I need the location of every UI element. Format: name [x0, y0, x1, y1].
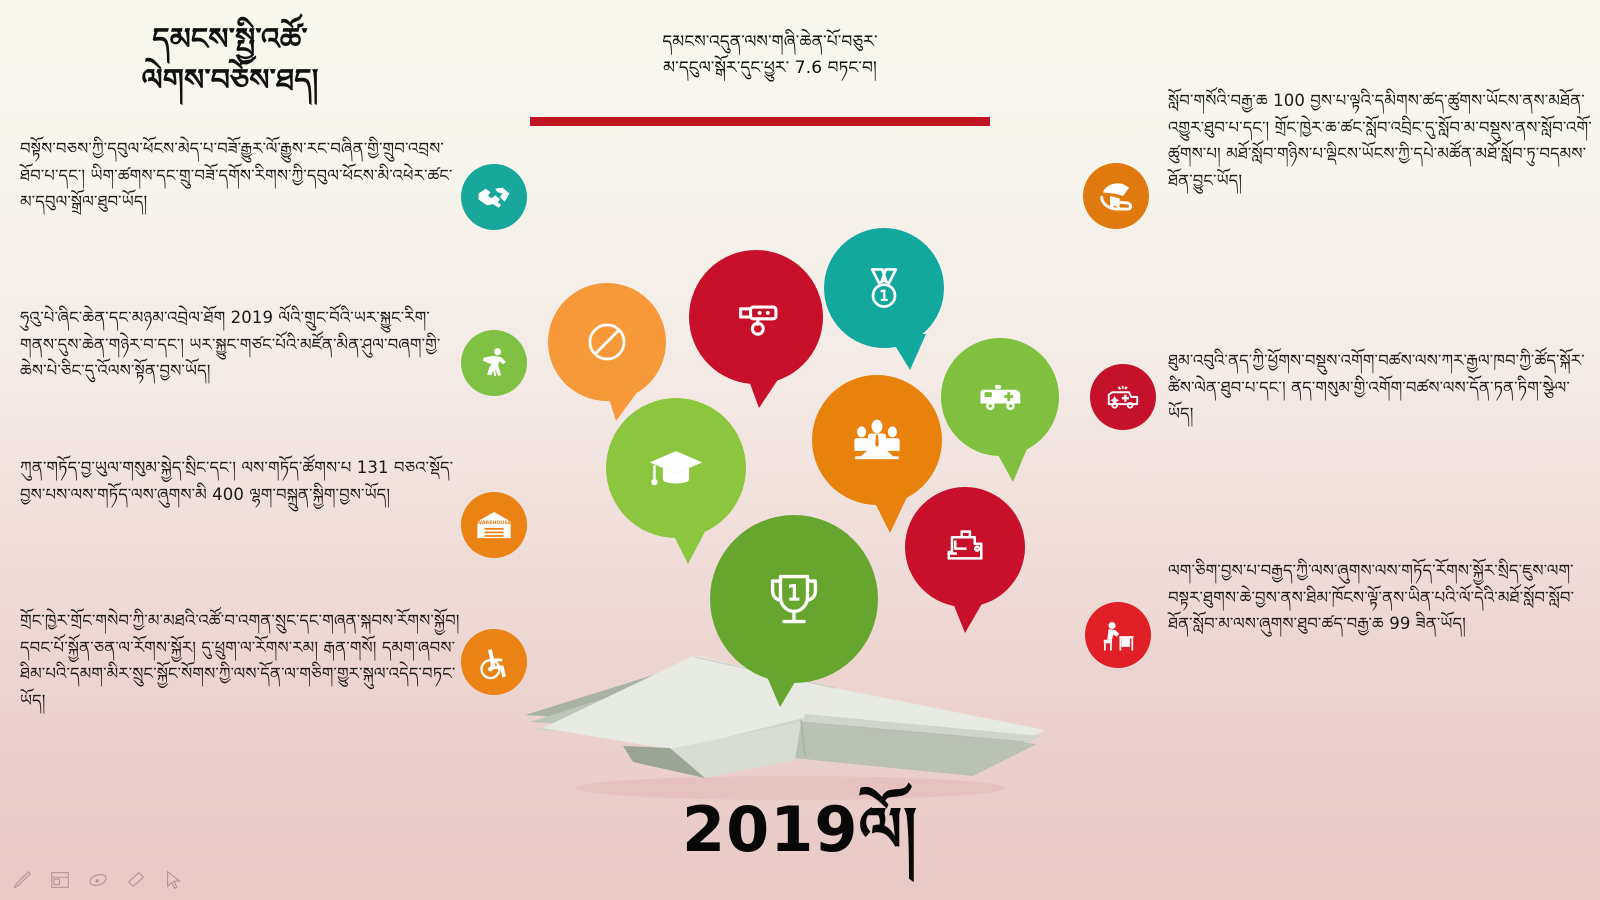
medal-1-icon: 1: [857, 261, 911, 315]
year-label: 2019ལོ།: [600, 780, 1000, 880]
left-paragraph-1: བསྟོས་བཅས་ཀྱི་དབུལ་ཕོངས་མེད་པ་བཟོ་རྒྱུར་…: [20, 136, 460, 216]
eraser-icon: [125, 869, 147, 891]
sewing-machine-icon: [939, 521, 991, 573]
badge-person-at-desk[interactable]: [1085, 602, 1151, 668]
bubble-meeting[interactable]: [812, 375, 942, 505]
pen-icon: [11, 869, 33, 891]
right-paragraph-2: ཐུམ་འབུའི་ནད་ཀྱི་ཕྱོགས་བསྡུས་འགོག་བཚས་ལས…: [1168, 348, 1593, 428]
left-paragraph-4: གྲོང་ཁྱེར་གྲོང་གསེབ་ཀྱི་མ་མཐའི་འཚོ་བ་འགན…: [20, 608, 460, 715]
badge-warehouse[interactable]: WAREHOUSE: [461, 492, 527, 558]
cursor-arrow-icon: [163, 869, 185, 891]
megaphone-icon: [727, 288, 785, 346]
bubble-medal[interactable]: 1: [824, 228, 944, 348]
layout-tool[interactable]: [48, 868, 72, 892]
right-paragraph-3: ལག་ཅིག་བྱས་པ་བརྒྱད་ཀྱི་ལས་ཞུགས་ལས་གཏོད་ར…: [1168, 558, 1593, 638]
accent-rule-divider: [530, 117, 990, 126]
ellipse-tool[interactable]: [86, 868, 110, 892]
left-paragraph-2: ཧུའུ་པེ་ཞིང་ཆེན་དང་མཉམ་འབྲེལ་ཐོག 2019 ལོ…: [20, 305, 460, 385]
eraser-tool[interactable]: [124, 868, 148, 892]
badge-handshake[interactable]: [461, 164, 527, 230]
right-paragraph-1: སློབ་གསོའི་བརྒྱ་ཆ 100 བྱས་པ་ལྟའི་དམིགས་ཚ…: [1168, 88, 1593, 195]
bubble-megaphone[interactable]: [689, 250, 823, 384]
person-at-desk-icon: [1099, 616, 1137, 654]
bubble-tail: [945, 591, 991, 635]
badge-hand-holding-book[interactable]: [1083, 163, 1149, 229]
graduation-cap-icon: [646, 438, 706, 498]
trophy-1-icon: 1: [758, 563, 830, 635]
left-paragraph-3: ཀུན་གཏོད་བྱ་ཡུལ་གསུམ་སྐྱེད་སྲིང་དང་། ལས་…: [20, 455, 460, 508]
bubble-trophy[interactable]: 1: [710, 515, 878, 683]
badge-ambulance[interactable]: [1090, 364, 1156, 430]
meeting-people-icon: [848, 411, 906, 469]
ambulance-side-icon: [974, 371, 1026, 423]
bubble-tail: [886, 332, 932, 372]
slide-canvas: དམངས་སྤྱི་འཚོ་ལེགས་བཅོས་ཐད། དམངས་འདུན་ལས…: [0, 0, 1600, 900]
ambulance-icon: [1104, 378, 1142, 416]
bubble-prohibited[interactable]: [548, 283, 666, 401]
handshake-icon: [475, 178, 513, 216]
bubble-tail: [758, 663, 810, 709]
hand-holding-book-icon: [1097, 177, 1135, 215]
page-title: དམངས་སྤྱི་འཚོ་ལེགས་བཅོས་ཐད།: [30, 20, 430, 101]
pen-tool[interactable]: [10, 868, 34, 892]
person-dancing-icon: [475, 344, 513, 382]
bubble-tail: [989, 440, 1035, 484]
slide-layout-icon: [49, 869, 71, 891]
center-heading: དམངས་འདུན་ལས་གཞི་ཆེན་པོ་བཅུར་མ་དངུལ་སྒོར…: [520, 30, 1020, 81]
svg-text:WAREHOUSE: WAREHOUSE: [477, 520, 511, 526]
bubble-ambulance[interactable]: [941, 338, 1059, 456]
prohibited-icon: [581, 316, 633, 368]
bubble-tail: [666, 522, 714, 566]
svg-text:1: 1: [879, 289, 888, 305]
bubble-sewing[interactable]: [905, 487, 1025, 607]
badge-person-dancing[interactable]: [461, 330, 527, 396]
svg-text:1: 1: [787, 581, 801, 606]
bubble-tail: [743, 368, 787, 410]
pointer-tool[interactable]: [162, 868, 186, 892]
annotation-toolbar[interactable]: [10, 868, 186, 892]
ellipse-icon: [87, 869, 109, 891]
warehouse-icon: WAREHOUSE: [475, 506, 513, 544]
